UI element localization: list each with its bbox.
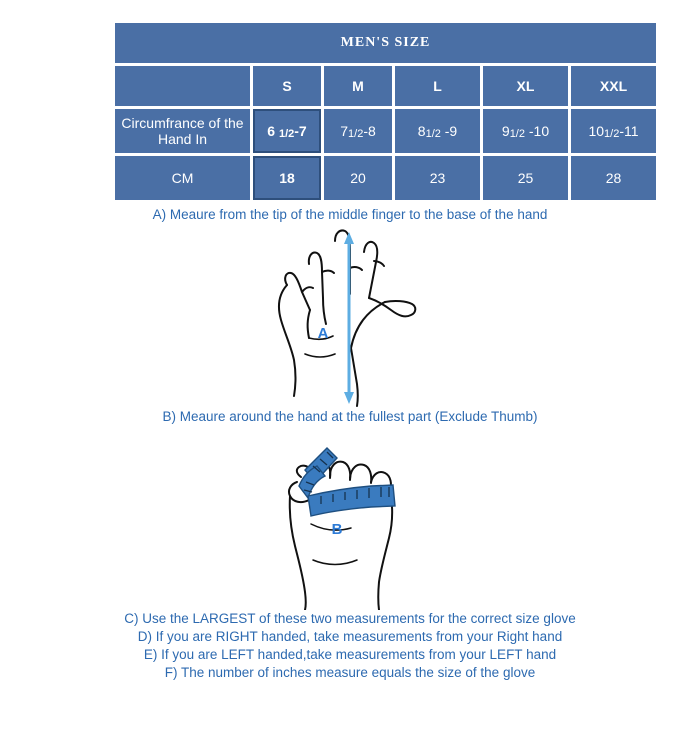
cell-inch-xxl-fraction: 1/2 [604, 128, 619, 140]
cell-inch-l-rest: -9 [441, 123, 457, 139]
cell-inch-xxl-whole: 10 [588, 123, 604, 139]
cell-cm-m: 20 [324, 156, 392, 200]
row-label-cm: CM [115, 156, 250, 200]
row-label-circumference: Circumfrance of the Hand In [115, 109, 250, 153]
arrow-head-top [344, 232, 354, 244]
mens-size-table: MEN'S SIZE S M L XL XXL Circumfrance of … [112, 20, 659, 203]
header-blank [115, 66, 250, 106]
cell-inch-xl: 91/2 -10 [483, 109, 568, 153]
open-hand-icon: A [265, 228, 435, 408]
table-title-row: MEN'S SIZE [115, 23, 656, 63]
header-size-m: M [324, 66, 392, 106]
header-size-xxl: XXL [571, 66, 656, 106]
cell-inch-xl-whole: 9 [502, 123, 510, 139]
cell-inch-xl-rest: -10 [525, 123, 549, 139]
note-e: E) If you are LEFT handed,take measureme… [0, 646, 700, 664]
cell-inch-l-fraction: 1/2 [426, 128, 441, 140]
cell-inch-s-fraction: 1/2 [279, 128, 294, 140]
measuring-tape-icon [299, 448, 395, 516]
fist-hand-icon: B [275, 430, 435, 610]
caption-a: A) Meaure from the tip of the middle fin… [0, 207, 700, 222]
page-title: MEN'S SIZE [115, 23, 656, 63]
caption-b: B) Meaure around the hand at the fullest… [0, 409, 700, 424]
cell-inch-m-whole: 7 [340, 123, 348, 139]
table-row: Circumfrance of the Hand In 6 1/2-7 71/2… [115, 109, 656, 153]
cell-inch-xxl: 101/2-11 [571, 109, 656, 153]
cell-inch-xxl-rest: -11 [619, 123, 638, 139]
table-header-row: S M L XL XXL [115, 66, 656, 106]
instruction-notes: C) Use the LARGEST of these two measurem… [0, 610, 700, 682]
header-size-s: S [253, 66, 321, 106]
size-chart-page: MEN'S SIZE S M L XL XXL Circumfrance of … [0, 0, 700, 750]
cell-cm-xxl: 28 [571, 156, 656, 200]
measure-label-a: A [318, 325, 329, 342]
cell-cm-s: 18 [253, 156, 321, 200]
cell-cm-l: 23 [395, 156, 480, 200]
cell-inch-s-whole: 6 [267, 123, 275, 139]
cell-inch-m: 71/2-8 [324, 109, 392, 153]
cell-inch-s-rest: -7 [294, 123, 306, 139]
cell-inch-m-rest: -8 [363, 123, 375, 139]
note-c: C) Use the LARGEST of these two measurem… [0, 610, 700, 628]
fist-with-tape-illustration: B [275, 430, 435, 610]
header-size-l: L [395, 66, 480, 106]
cell-inch-m-fraction: 1/2 [348, 128, 363, 140]
open-hand-illustration: A [265, 228, 435, 408]
cell-cm-xl: 25 [483, 156, 568, 200]
cell-inch-s: 6 1/2-7 [253, 109, 321, 153]
cell-inch-xl-fraction: 1/2 [510, 128, 525, 140]
measure-label-b: B [332, 521, 343, 538]
size-table-container: MEN'S SIZE S M L XL XXL Circumfrance of … [112, 20, 642, 203]
cell-inch-l-whole: 8 [418, 123, 426, 139]
cell-inch-l: 81/2 -9 [395, 109, 480, 153]
note-d: D) If you are RIGHT handed, take measure… [0, 628, 700, 646]
table-row: CM 18 20 23 25 28 [115, 156, 656, 200]
note-f: F) The number of inches measure equals t… [0, 664, 700, 682]
arrow-head-bottom [344, 392, 354, 404]
header-size-xl: XL [483, 66, 568, 106]
